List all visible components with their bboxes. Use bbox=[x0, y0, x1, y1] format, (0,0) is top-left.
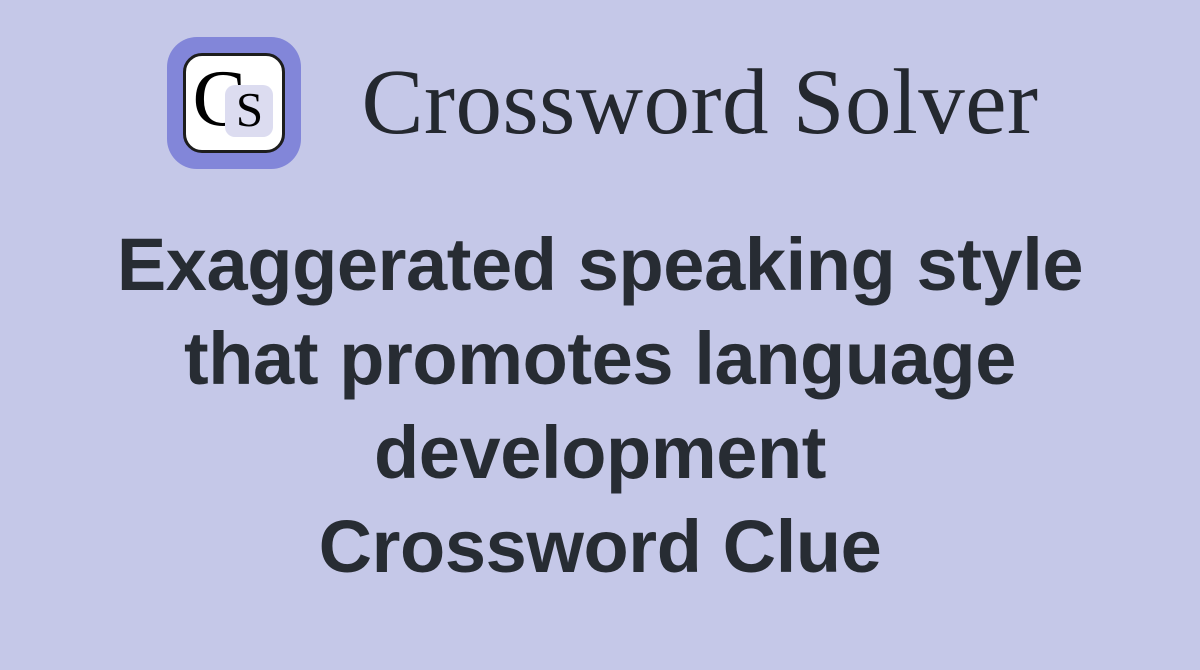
logo-inner-tile: C S bbox=[183, 53, 285, 153]
page-root: C S Crossword Solver Exaggerated speakin… bbox=[0, 0, 1200, 670]
crossword-solver-logo-icon[interactable]: C S bbox=[167, 37, 301, 169]
logo-letter-s: S bbox=[236, 85, 263, 134]
brand-title[interactable]: Crossword Solver bbox=[361, 53, 1038, 153]
clue-heading-container: Exaggerated speaking style that promotes… bbox=[0, 218, 1200, 594]
brand-header[interactable]: C S Crossword Solver bbox=[0, 0, 1200, 205]
logo-badge-s: S bbox=[225, 85, 273, 137]
page-title: Exaggerated speaking style that promotes… bbox=[95, 218, 1105, 594]
